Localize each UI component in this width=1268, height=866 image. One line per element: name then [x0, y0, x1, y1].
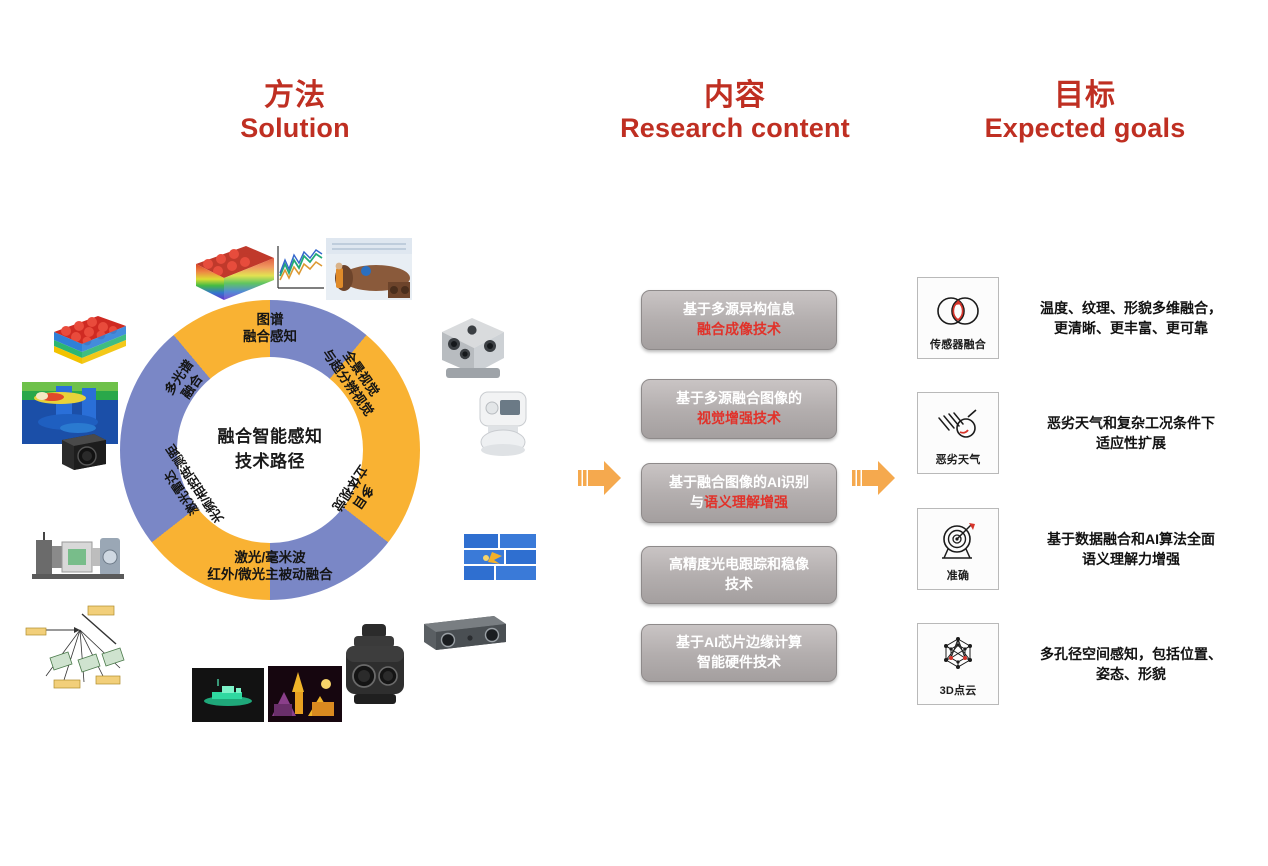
arrow-solution-to-content: [578, 458, 622, 498]
research-box-4-line1: 基于AI芯片边缘计算: [676, 634, 802, 650]
target-accuracy-icon: [936, 516, 980, 567]
goal-text-accuracy: 基于数据融合和AI算法全面 语义理解力增强: [1017, 529, 1245, 570]
goal-1-line2: 适应性扩展: [1096, 435, 1166, 451]
column-header-research-content: 内容 Research content: [570, 78, 900, 145]
hyperspectral-cube-image: [188, 238, 278, 308]
goal-3-line1: 多孔径空间感知，包括位置、: [1040, 646, 1222, 662]
column-header-solution: 方法 Solution: [160, 78, 430, 145]
research-box-3-line2: 技术: [725, 576, 753, 592]
research-box-1-line1: 基于多源融合图像的: [676, 390, 802, 406]
goal-card-sensor-fusion[interactable]: 传感器融合: [917, 277, 999, 359]
thermal-urban-image: [268, 666, 342, 722]
goal-card-label-0: 传感器融合: [930, 336, 986, 352]
stereo-camera-bar-image: [420, 610, 510, 656]
header-goals-cn: 目标: [920, 78, 1250, 113]
research-box-ai-recognition-semantics[interactable]: 基于融合图像的AI识别 与语义理解增强: [641, 463, 837, 523]
goal-0-line2: 更清晰、更丰富、更可靠: [1054, 320, 1208, 336]
research-box-2-line1: 基于融合图像的AI识别: [669, 474, 809, 490]
technology-roadmap-wheel: 图谱 融合感知 全景视觉 与超分辨视觉 多目 立体视觉 激光/毫米波 红外/微光…: [120, 300, 420, 600]
goal-row-accuracy: 准确 基于数据融合和AI算法全面 语义理解力增强: [917, 508, 1257, 590]
electro-optical-turret-image: [332, 620, 418, 716]
goal-card-label-3: 3D点云: [940, 682, 977, 698]
header-goals-en: Expected goals: [920, 113, 1250, 145]
sensor-fusion-icon: [934, 285, 982, 336]
goal-card-accuracy[interactable]: 准确: [917, 508, 999, 590]
research-box-ai-chip-edge-computing[interactable]: 基于AI芯片边缘计算 智能硬件技术: [641, 624, 837, 682]
research-box-4-line2: 智能硬件技术: [697, 654, 781, 670]
research-box-0-line1: 基于多源异构信息: [683, 301, 795, 317]
goal-1-line1: 恶劣天气和复杂工况条件下: [1047, 415, 1215, 431]
spectral-curve-plot-image: [268, 240, 328, 300]
research-box-visual-enhancement[interactable]: 基于多源融合图像的 视觉增强技术: [641, 379, 837, 439]
wheel-center-line2: 技术路径: [235, 450, 305, 475]
goal-text-bad-weather: 恶劣天气和复杂工况条件下 适应性扩展: [1017, 413, 1245, 454]
diagram-canvas: 方法 Solution 内容 Research content 目标 Expec…: [0, 0, 1268, 866]
research-box-1-highlight: 视觉增强技术: [697, 410, 781, 426]
goal-card-label-1: 恶劣天气: [936, 451, 981, 467]
ptz-camera-image: [472, 386, 534, 458]
column-header-expected-goals: 目标 Expected goals: [920, 78, 1250, 145]
compact-camera-image: [56, 428, 110, 474]
goal-row-sensor-fusion: 传感器融合 温度、纹理、形貌多维融合， 更清晰、更丰富、更可靠: [917, 277, 1257, 359]
goal-2-line2: 语义理解力增强: [1082, 551, 1180, 567]
goal-card-label-2: 准确: [947, 567, 969, 583]
wheel-center-line1: 融合智能感知: [218, 425, 323, 450]
optical-schematic-drawing: [24, 600, 150, 692]
goal-2-line1: 基于数据融合和AI算法全面: [1047, 531, 1215, 547]
goal-card-point-cloud[interactable]: 3D点云: [917, 623, 999, 705]
research-box-0-highlight: 融合成像技术: [697, 321, 781, 337]
goal-text-point-cloud: 多孔径空间感知，包括位置、 姿态、形貌: [1017, 644, 1245, 685]
research-box-2-highlight: 语义理解增强: [704, 494, 788, 510]
research-box-3-line1: 高精度光电跟踪和稳像: [669, 556, 809, 572]
point-cloud-icon: [936, 631, 980, 682]
goal-3-line2: 姿态、形貌: [1096, 666, 1166, 682]
goal-row-bad-weather: 恶劣天气 恶劣天气和复杂工况条件下 适应性扩展: [917, 392, 1257, 474]
laser-optics-module-image: [28, 522, 128, 588]
structured-light-depth-image: [462, 530, 540, 592]
goal-0-line1: 温度、纹理、形貌多维融合，: [1040, 300, 1222, 316]
header-content-cn: 内容: [570, 78, 900, 113]
arrow-content-to-goals: [852, 458, 896, 498]
industrial-pipeline-photo: [326, 238, 412, 300]
thermal-ship-image: [192, 668, 264, 722]
fruit-spectral-tray-image: [48, 312, 128, 370]
research-box-fusion-imaging[interactable]: 基于多源异构信息 融合成像技术: [641, 290, 837, 350]
research-box-2-line2-plain: 与: [690, 494, 704, 510]
panoramic-camera-rig-image: [432, 310, 512, 388]
header-content-en: Research content: [570, 113, 900, 145]
goal-card-bad-weather[interactable]: 恶劣天气: [917, 392, 999, 474]
wheel-center-title: 融合智能感知 技术路径: [177, 357, 363, 543]
header-solution-en: Solution: [160, 113, 430, 145]
bad-weather-icon: [935, 400, 981, 451]
header-solution-cn: 方法: [160, 78, 430, 113]
goal-text-sensor-fusion: 温度、纹理、形貌多维融合， 更清晰、更丰富、更可靠: [1017, 298, 1245, 339]
research-box-optical-tracking-stabilization[interactable]: 高精度光电跟踪和稳像 技术: [641, 546, 837, 604]
goal-row-point-cloud: 3D点云 多孔径空间感知，包括位置、 姿态、形貌: [917, 623, 1257, 705]
